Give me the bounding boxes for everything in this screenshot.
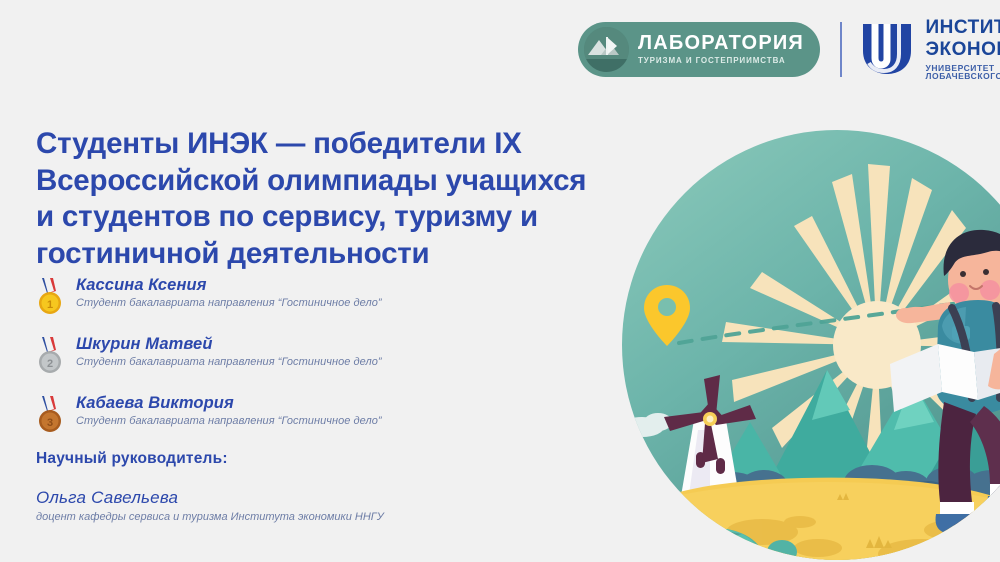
title-line-3: и студентов по сервису, туризму и: [36, 199, 656, 236]
unn-logo-line3: УНИВЕРСИТЕТ ЛОБАЧЕВСКОГО: [926, 64, 1000, 81]
header-divider: [840, 22, 842, 77]
supervisor-block: Научный руководитель: Ольга Савельева до…: [36, 450, 476, 523]
unn-shield-u-icon: [860, 21, 914, 77]
winner-name: Кассина Ксения: [76, 276, 382, 295]
unn-logo[interactable]: ИНСТИТУТ ЭКОНОМИКИ УНИВЕРСИТЕТ ЛОБАЧЕВСК…: [860, 18, 1000, 81]
svg-text:2: 2: [47, 358, 53, 370]
supervisor-heading: Научный руководитель:: [36, 450, 476, 468]
supervisor-role: доцент кафедры сервиса и туризма Институ…: [36, 511, 476, 523]
mountain-sail-icon: [584, 27, 629, 72]
svg-text:1: 1: [47, 299, 53, 311]
traveler-with-map-illustration: [622, 130, 1000, 560]
list-item: 3 Кабаева Виктория Студент бакалавриата …: [36, 394, 476, 436]
lab-logo[interactable]: ЛАБОРАТОРИЯ ТУРИЗМА И ГОСТЕПРИИМСТВА: [578, 22, 820, 77]
page-title: Студенты ИНЭК — победители IX Всероссийс…: [36, 126, 656, 272]
header-logos: ЛАБОРАТОРИЯ ТУРИЗМА И ГОСТЕПРИИМСТВА ИНС…: [578, 16, 990, 82]
unn-logo-line2: ЭКОНОМИКИ: [926, 40, 1000, 59]
lab-logo-subtitle: ТУРИЗМА И ГОСТЕПРИИМСТВА: [638, 57, 804, 65]
svg-text:3: 3: [47, 417, 53, 429]
supervisor-name: Ольга Савельева: [36, 488, 476, 508]
title-line-4: гостиничной деятельности: [36, 236, 656, 273]
winner-role: Студент бакалавриата направления “Гостин…: [76, 297, 382, 309]
winner-role: Студент бакалавриата направления “Гостин…: [76, 415, 382, 427]
list-item: 2 Шкурин Матвей Студент бакалавриата нап…: [36, 335, 476, 377]
title-line-2: Всероссийской олимпиады учащихся: [36, 163, 656, 200]
title-line-1: Студенты ИНЭК — победители IX: [36, 126, 656, 163]
gold-medal-icon: 1: [36, 278, 66, 318]
list-item: 1 Кассина Ксения Студент бакалавриата на…: [36, 276, 476, 318]
winner-name: Кабаева Виктория: [76, 394, 382, 413]
slide-canvas: ЛАБОРАТОРИЯ ТУРИЗМА И ГОСТЕПРИИМСТВА ИНС…: [0, 0, 1000, 562]
winner-name: Шкурин Матвей: [76, 335, 382, 354]
lab-logo-name: ЛАБОРАТОРИЯ: [638, 33, 804, 53]
silver-medal-icon: 2: [36, 337, 66, 377]
bronze-medal-icon: 3: [36, 396, 66, 436]
winners-list: 1 Кассина Ксения Студент бакалавриата на…: [36, 276, 476, 453]
winner-role: Студент бакалавриата направления “Гостин…: [76, 356, 382, 368]
unn-logo-line1: ИНСТИТУТ: [926, 18, 1000, 37]
